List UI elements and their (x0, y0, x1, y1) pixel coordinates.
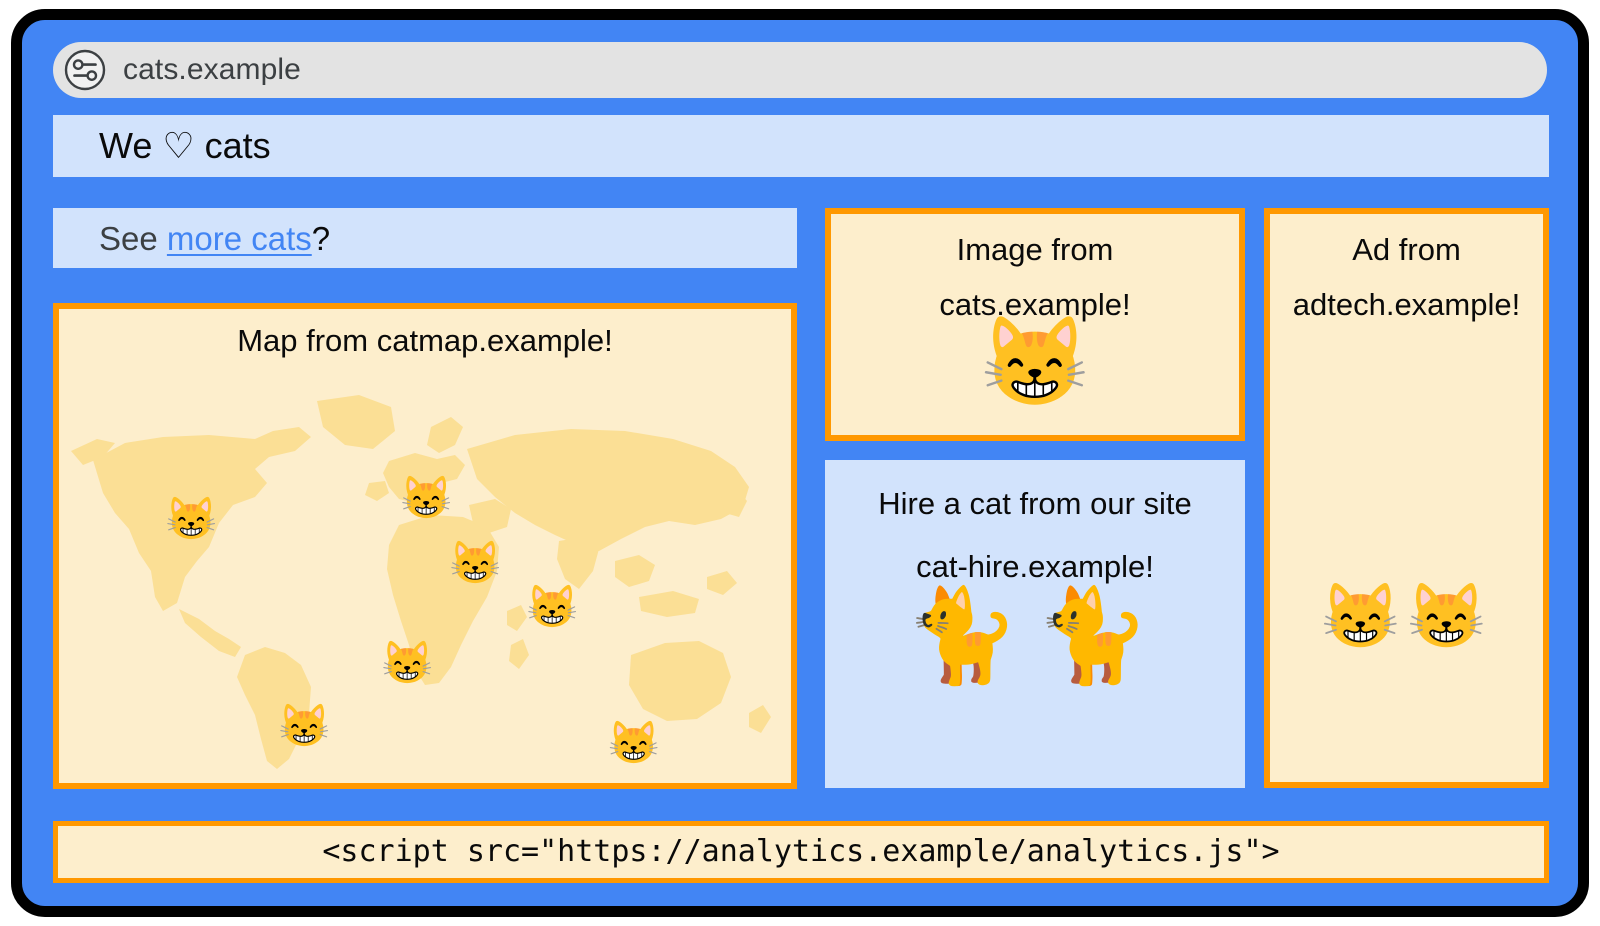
walking-cats-icon: 🐈🐈 (825, 590, 1245, 682)
ad-panel-title-line1: Ad from (1270, 232, 1543, 269)
more-cats-sentence: See more cats? (99, 222, 330, 255)
more-cats-strip: See more cats? (53, 208, 797, 268)
hire-panel-title-line1: Hire a cat from our site (825, 486, 1245, 523)
more-cats-link[interactable]: more cats (167, 220, 312, 257)
hire-panel-title-line2: cat-hire.example! (825, 549, 1245, 586)
hire-panel[interactable]: Hire a cat from our site cat-hire.exampl… (825, 460, 1245, 788)
page-title: We ♡ cats (99, 128, 271, 164)
browser-window: cats.example We ♡ cats See more cats? Ma… (11, 9, 1589, 917)
map-marker-cat[interactable]: 😸 (449, 542, 501, 584)
address-bar[interactable]: cats.example (53, 42, 1547, 98)
map-marker-cat[interactable]: 😸 (165, 498, 217, 540)
image-panel[interactable]: Image from cats.example! 😸 (825, 208, 1245, 441)
grinning-cat-icon: 😸 (831, 318, 1239, 406)
page-headline-strip: We ♡ cats (53, 115, 1549, 177)
world-map-svg (59, 365, 791, 783)
address-bar-url[interactable]: cats.example (123, 55, 301, 85)
image-panel-title-line1: Image from (831, 232, 1239, 269)
analytics-script-bar: <script src="https://analytics.example/a… (53, 821, 1549, 883)
tune-icon[interactable] (64, 49, 106, 91)
ad-panel-title-line2: adtech.example! (1270, 287, 1543, 324)
ad-panel[interactable]: Ad from adtech.example! 😸😸 (1264, 208, 1549, 788)
map-marker-cat[interactable]: 😸 (278, 705, 330, 747)
world-map[interactable]: 😸 😸 😸 😸 😸 😸 😸 (59, 365, 791, 783)
more-cats-suffix: ? (312, 220, 330, 257)
map-marker-cat[interactable]: 😸 (381, 642, 433, 684)
ad-cats-icon: 😸😸 (1270, 584, 1543, 648)
map-panel[interactable]: Map from catmap.example! (53, 303, 797, 789)
map-marker-cat[interactable]: 😸 (607, 722, 659, 764)
map-marker-cat[interactable]: 😸 (400, 477, 452, 519)
map-panel-title: Map from catmap.example! (59, 323, 791, 360)
more-cats-prefix: See (99, 220, 167, 257)
analytics-script-code: <script src="https://analytics.example/a… (322, 837, 1279, 867)
page-content: We ♡ cats See more cats? Map from catmap… (53, 115, 1549, 889)
map-marker-cat[interactable]: 😸 (526, 586, 578, 628)
